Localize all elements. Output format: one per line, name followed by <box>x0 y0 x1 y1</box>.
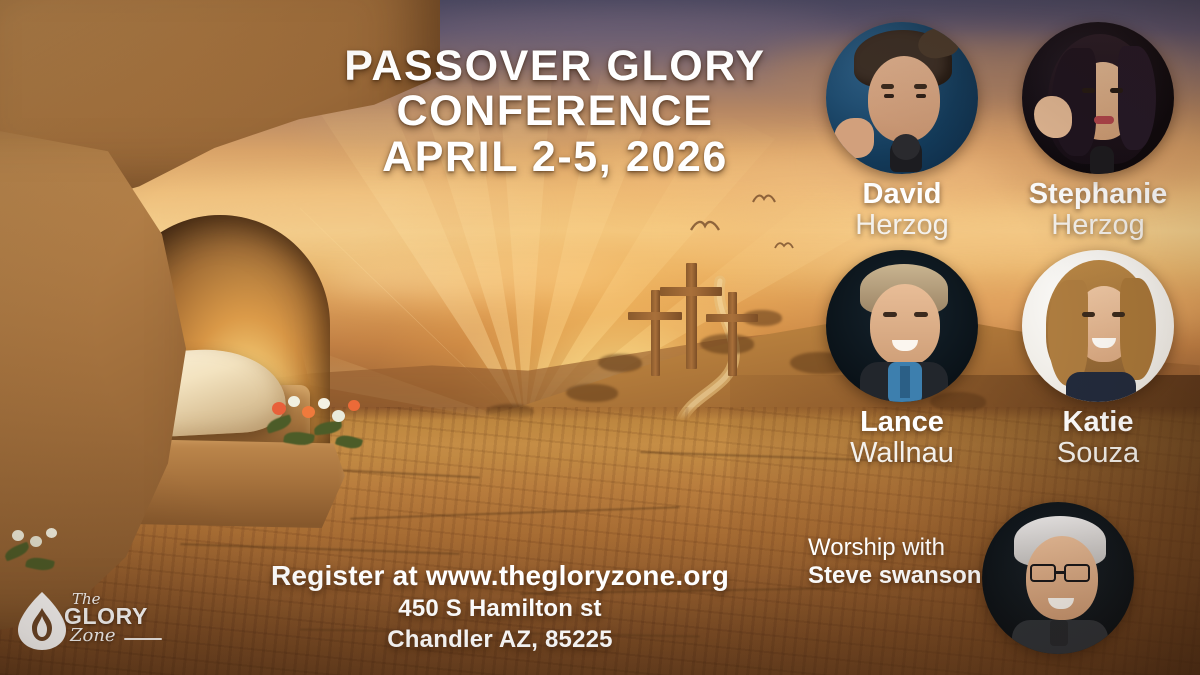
speaker-last-name: Souza <box>1008 438 1188 469</box>
registration-info: Register at www.thegloryzone.org 450 S H… <box>180 560 820 654</box>
speaker-grid: David Herzog Stephanie Herzog <box>800 0 1200 675</box>
venue-city-state: Chandler AZ, 85225 <box>180 626 820 654</box>
title-line-1: PASSOVER GLORY <box>300 44 810 89</box>
speaker-first-name: Lance <box>812 408 992 438</box>
event-poster: PASSOVER GLORY CONFERENCE APRIL 2-5, 202… <box>0 0 1200 675</box>
register-url[interactable]: Register at www.thegloryzone.org <box>180 560 820 592</box>
venue-street: 450 S Hamilton st <box>180 595 820 623</box>
speaker-katie-souza: Katie Souza <box>1008 250 1188 469</box>
speaker-first-name: Katie <box>1008 408 1188 438</box>
lance-wallnau-portrait <box>826 250 978 402</box>
logo-rule <box>124 638 162 640</box>
cloud <box>330 258 630 298</box>
worship-credit: Worship with Steve swanson <box>808 534 994 591</box>
cross-right <box>706 292 758 376</box>
speaker-stephanie-herzog: Stephanie Herzog <box>1008 22 1188 241</box>
speaker-lance-wallnau: Lance Wallnau <box>812 250 992 469</box>
speaker-last-name: Herzog <box>1008 210 1188 241</box>
speaker-first-name: Stephanie <box>1008 180 1188 210</box>
katie-souza-portrait <box>1022 250 1174 402</box>
speaker-last-name: Wallnau <box>812 438 992 469</box>
title-line-2: CONFERENCE <box>300 89 810 134</box>
speaker-first-name: David <box>812 180 992 210</box>
speaker-last-name: Herzog <box>812 210 992 241</box>
worship-prefix: Worship with <box>808 534 994 562</box>
shrub <box>566 384 618 402</box>
bird-icon <box>690 218 720 234</box>
speaker-steve-swanson <box>976 502 1140 654</box>
flowers <box>0 524 90 584</box>
david-herzog-portrait <box>826 22 978 174</box>
glory-zone-logo[interactable]: The GLORY Zone <box>14 584 164 660</box>
steve-swanson-portrait <box>982 502 1134 654</box>
bird-icon <box>752 192 776 205</box>
bird-icon <box>774 240 794 251</box>
flowers <box>262 392 382 456</box>
logo-zone: Zone <box>70 625 116 646</box>
speaker-david-herzog: David Herzog <box>812 22 992 241</box>
worship-name: Steve swanson <box>808 562 994 590</box>
title-line-3: APRIL 2-5, 2026 <box>300 135 810 180</box>
stephanie-herzog-portrait <box>1022 22 1174 174</box>
logo-wordmark: The GLORY Zone <box>62 584 166 656</box>
poster-title: PASSOVER GLORY CONFERENCE APRIL 2-5, 202… <box>300 44 810 180</box>
